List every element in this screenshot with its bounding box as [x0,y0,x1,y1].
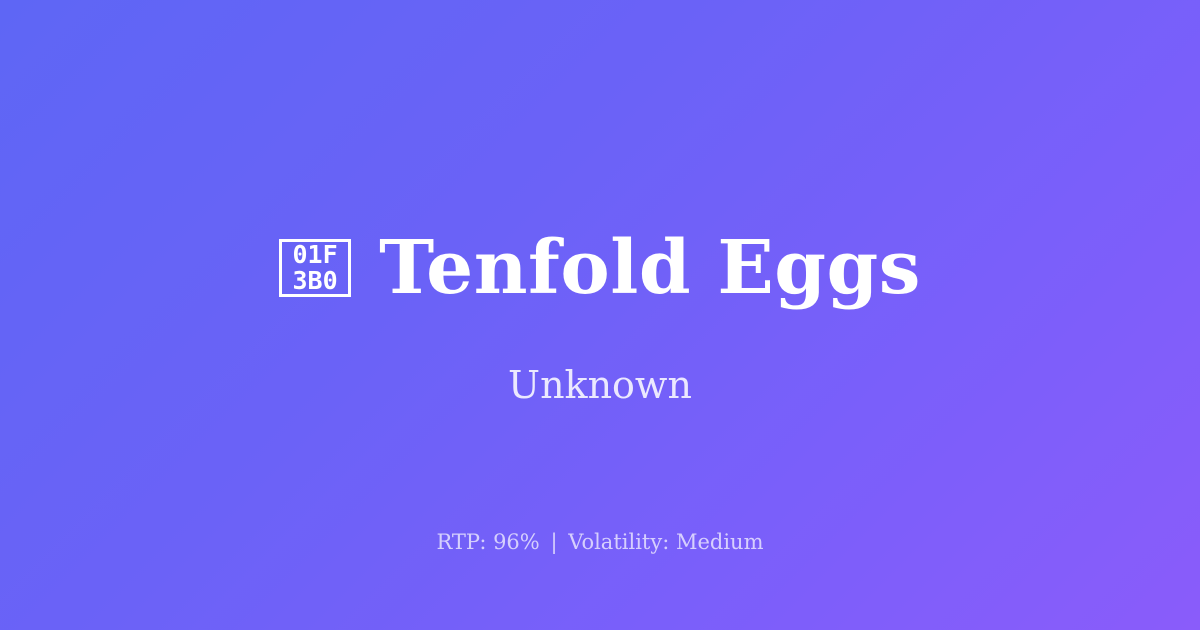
page-title: Tenfold Eggs [379,228,921,308]
game-stats-footer: RTP: 96% | Volatility: Medium [0,528,1200,556]
footer-separator: | [546,530,561,554]
rtp-value: RTP: 96% [436,530,539,554]
volatility-value: Volatility: Medium [568,530,763,554]
game-provider-subtitle: Unknown [0,362,1200,408]
title-row: 01F 3B0 Tenfold Eggs [0,228,1200,308]
tofu-codepoint-top: 01F [293,242,338,268]
slot-machine-icon: 01F 3B0 [279,239,351,297]
tofu-codepoint-bottom: 3B0 [293,268,338,294]
game-preview-card: 01F 3B0 Tenfold Eggs Unknown RTP: 96% | … [0,0,1200,630]
